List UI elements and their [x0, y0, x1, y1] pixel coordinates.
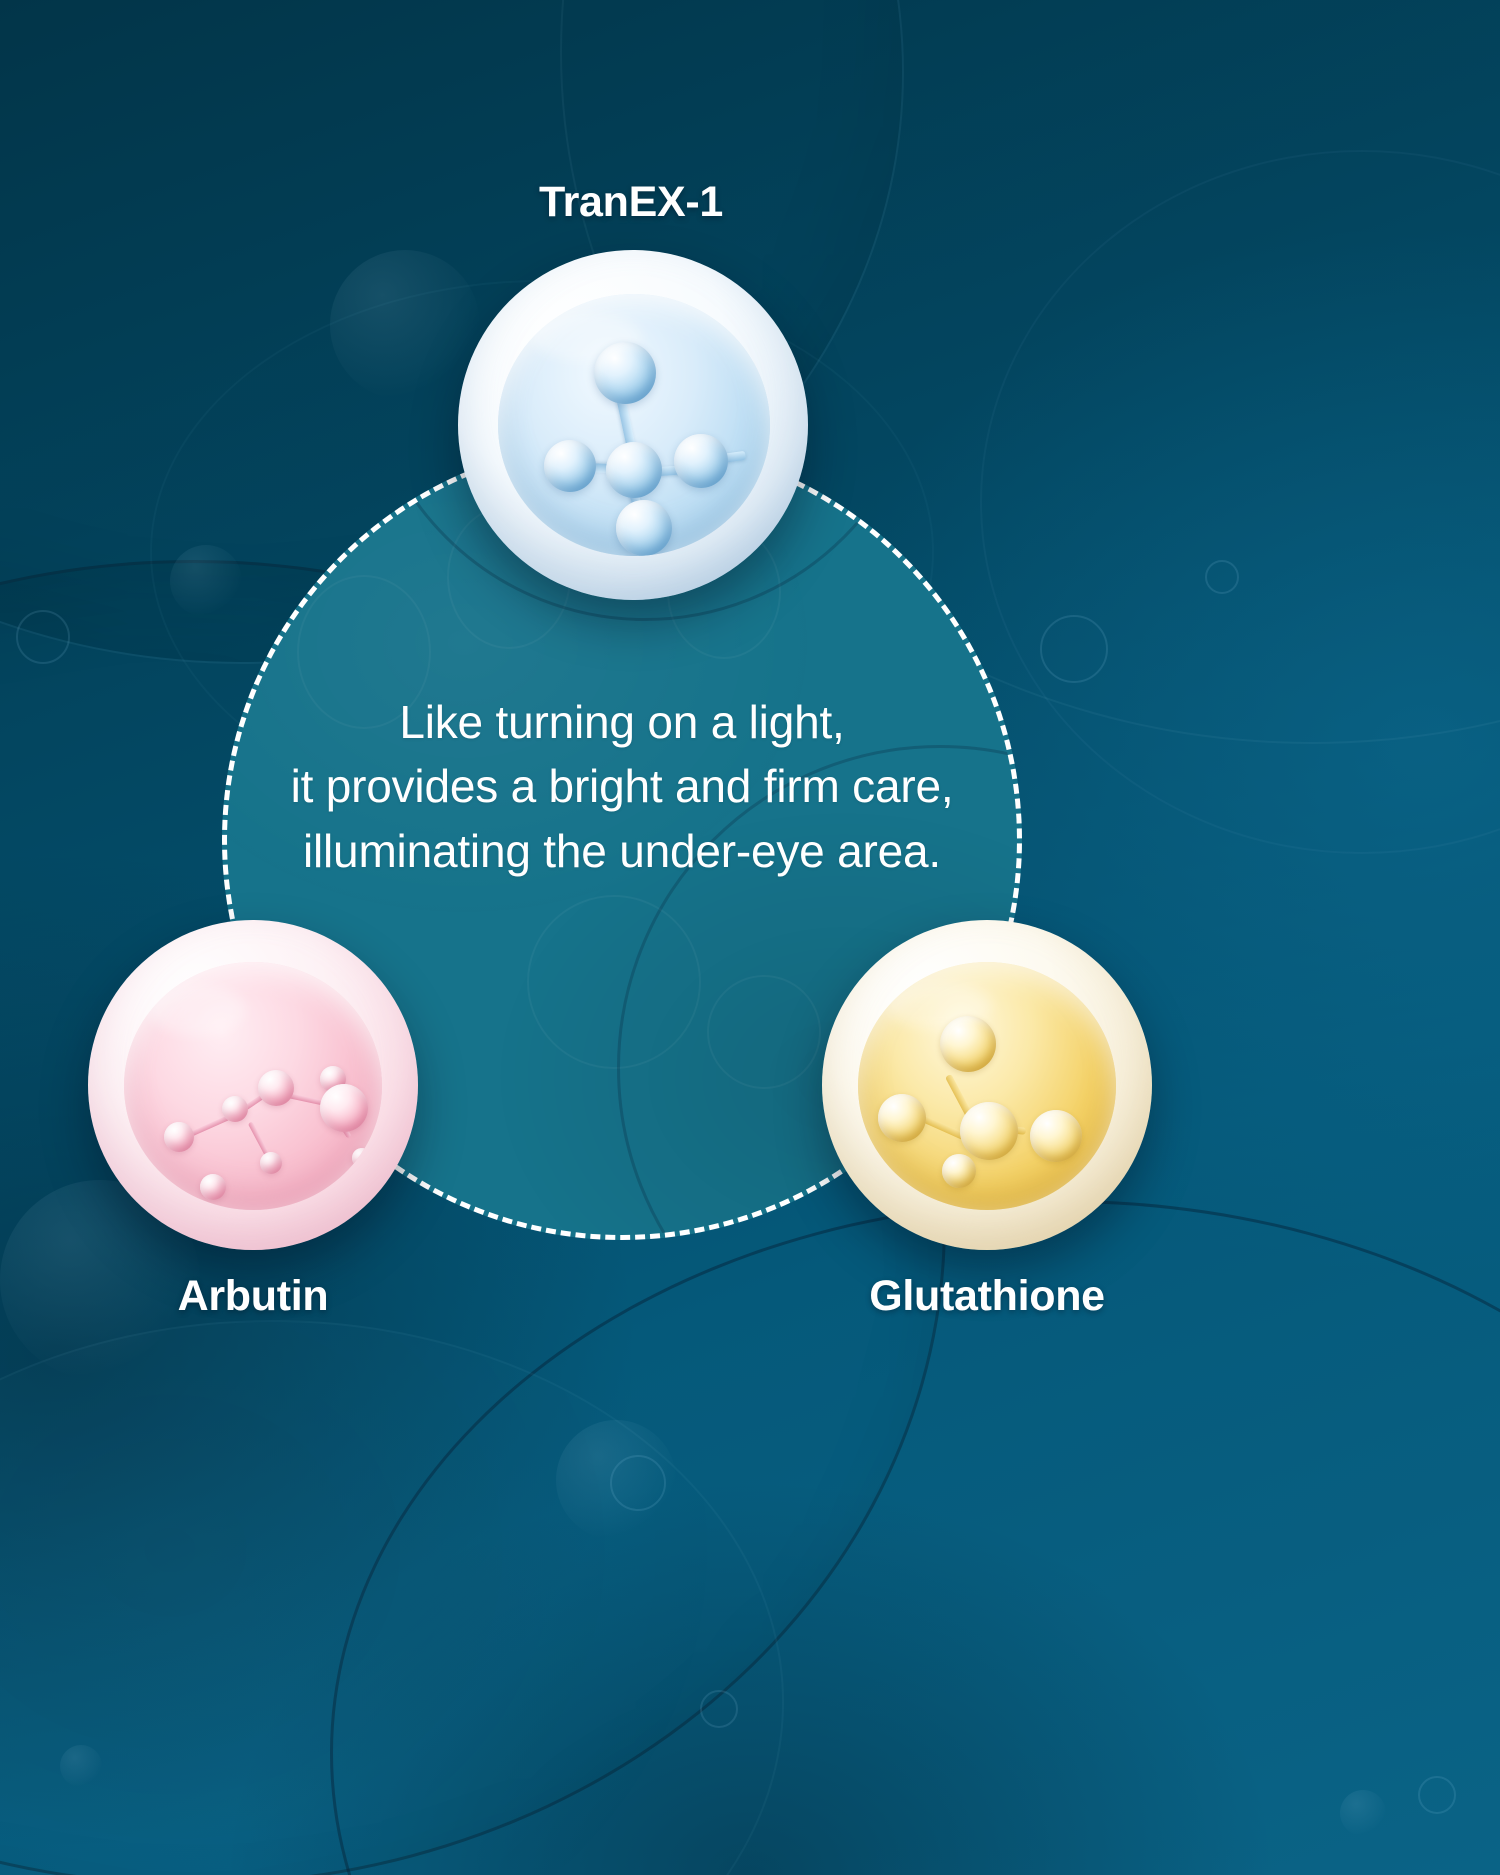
tranex-liquid-pool — [498, 294, 770, 556]
glutathione-liquid-pool — [858, 962, 1116, 1210]
arbutin-molecule-8 — [200, 1174, 226, 1200]
glutathione-molecule-3 — [878, 1094, 926, 1142]
tranex-molecule-3 — [544, 440, 596, 492]
label-tranex: TranEX-1 — [0, 178, 1262, 227]
arbutin-sphere — [88, 920, 418, 1250]
glutathione-sphere — [822, 920, 1152, 1250]
center-message: Like turning on a light, it provides a b… — [222, 690, 1022, 883]
arbutin-molecule-2 — [222, 1096, 248, 1122]
tranex-molecule-5 — [616, 500, 672, 556]
label-glutathione: Glutathione — [822, 1272, 1152, 1321]
center-message-line-3: illuminating the under-eye area. — [222, 819, 1022, 883]
arbutin-molecule-5 — [320, 1084, 368, 1132]
arbutin-liquid-pool — [124, 962, 382, 1210]
tranex-molecule-1 — [594, 342, 656, 404]
ingredient-glutathione — [822, 920, 1152, 1250]
tranex-sphere — [458, 250, 808, 600]
center-texture-ring-5 — [707, 975, 821, 1089]
glutathione-molecule-1 — [940, 1016, 996, 1072]
glutathione-molecule-4 — [1030, 1110, 1082, 1162]
ingredient-arbutin — [88, 920, 418, 1250]
arbutin-specular-highlight — [150, 984, 246, 1036]
glutathione-molecule-2 — [960, 1102, 1018, 1160]
tranex-molecule-2 — [606, 442, 662, 498]
center-message-line-1: Like turning on a light, — [222, 690, 1022, 754]
arbutin-molecule-3 — [258, 1070, 294, 1106]
arbutin-molecule-6 — [260, 1152, 282, 1174]
tranex-molecule-4 — [674, 434, 728, 488]
ingredient-tranex — [458, 250, 808, 600]
center-message-line-2: it provides a bright and firm care, — [222, 754, 1022, 818]
arbutin-molecule-1 — [164, 1122, 194, 1152]
promo-graphic: Like turning on a light, it provides a b… — [0, 0, 1500, 1875]
glutathione-molecule-5 — [942, 1154, 976, 1188]
arbutin-molecule-7 — [352, 1148, 372, 1168]
label-arbutin: Arbutin — [88, 1272, 418, 1321]
